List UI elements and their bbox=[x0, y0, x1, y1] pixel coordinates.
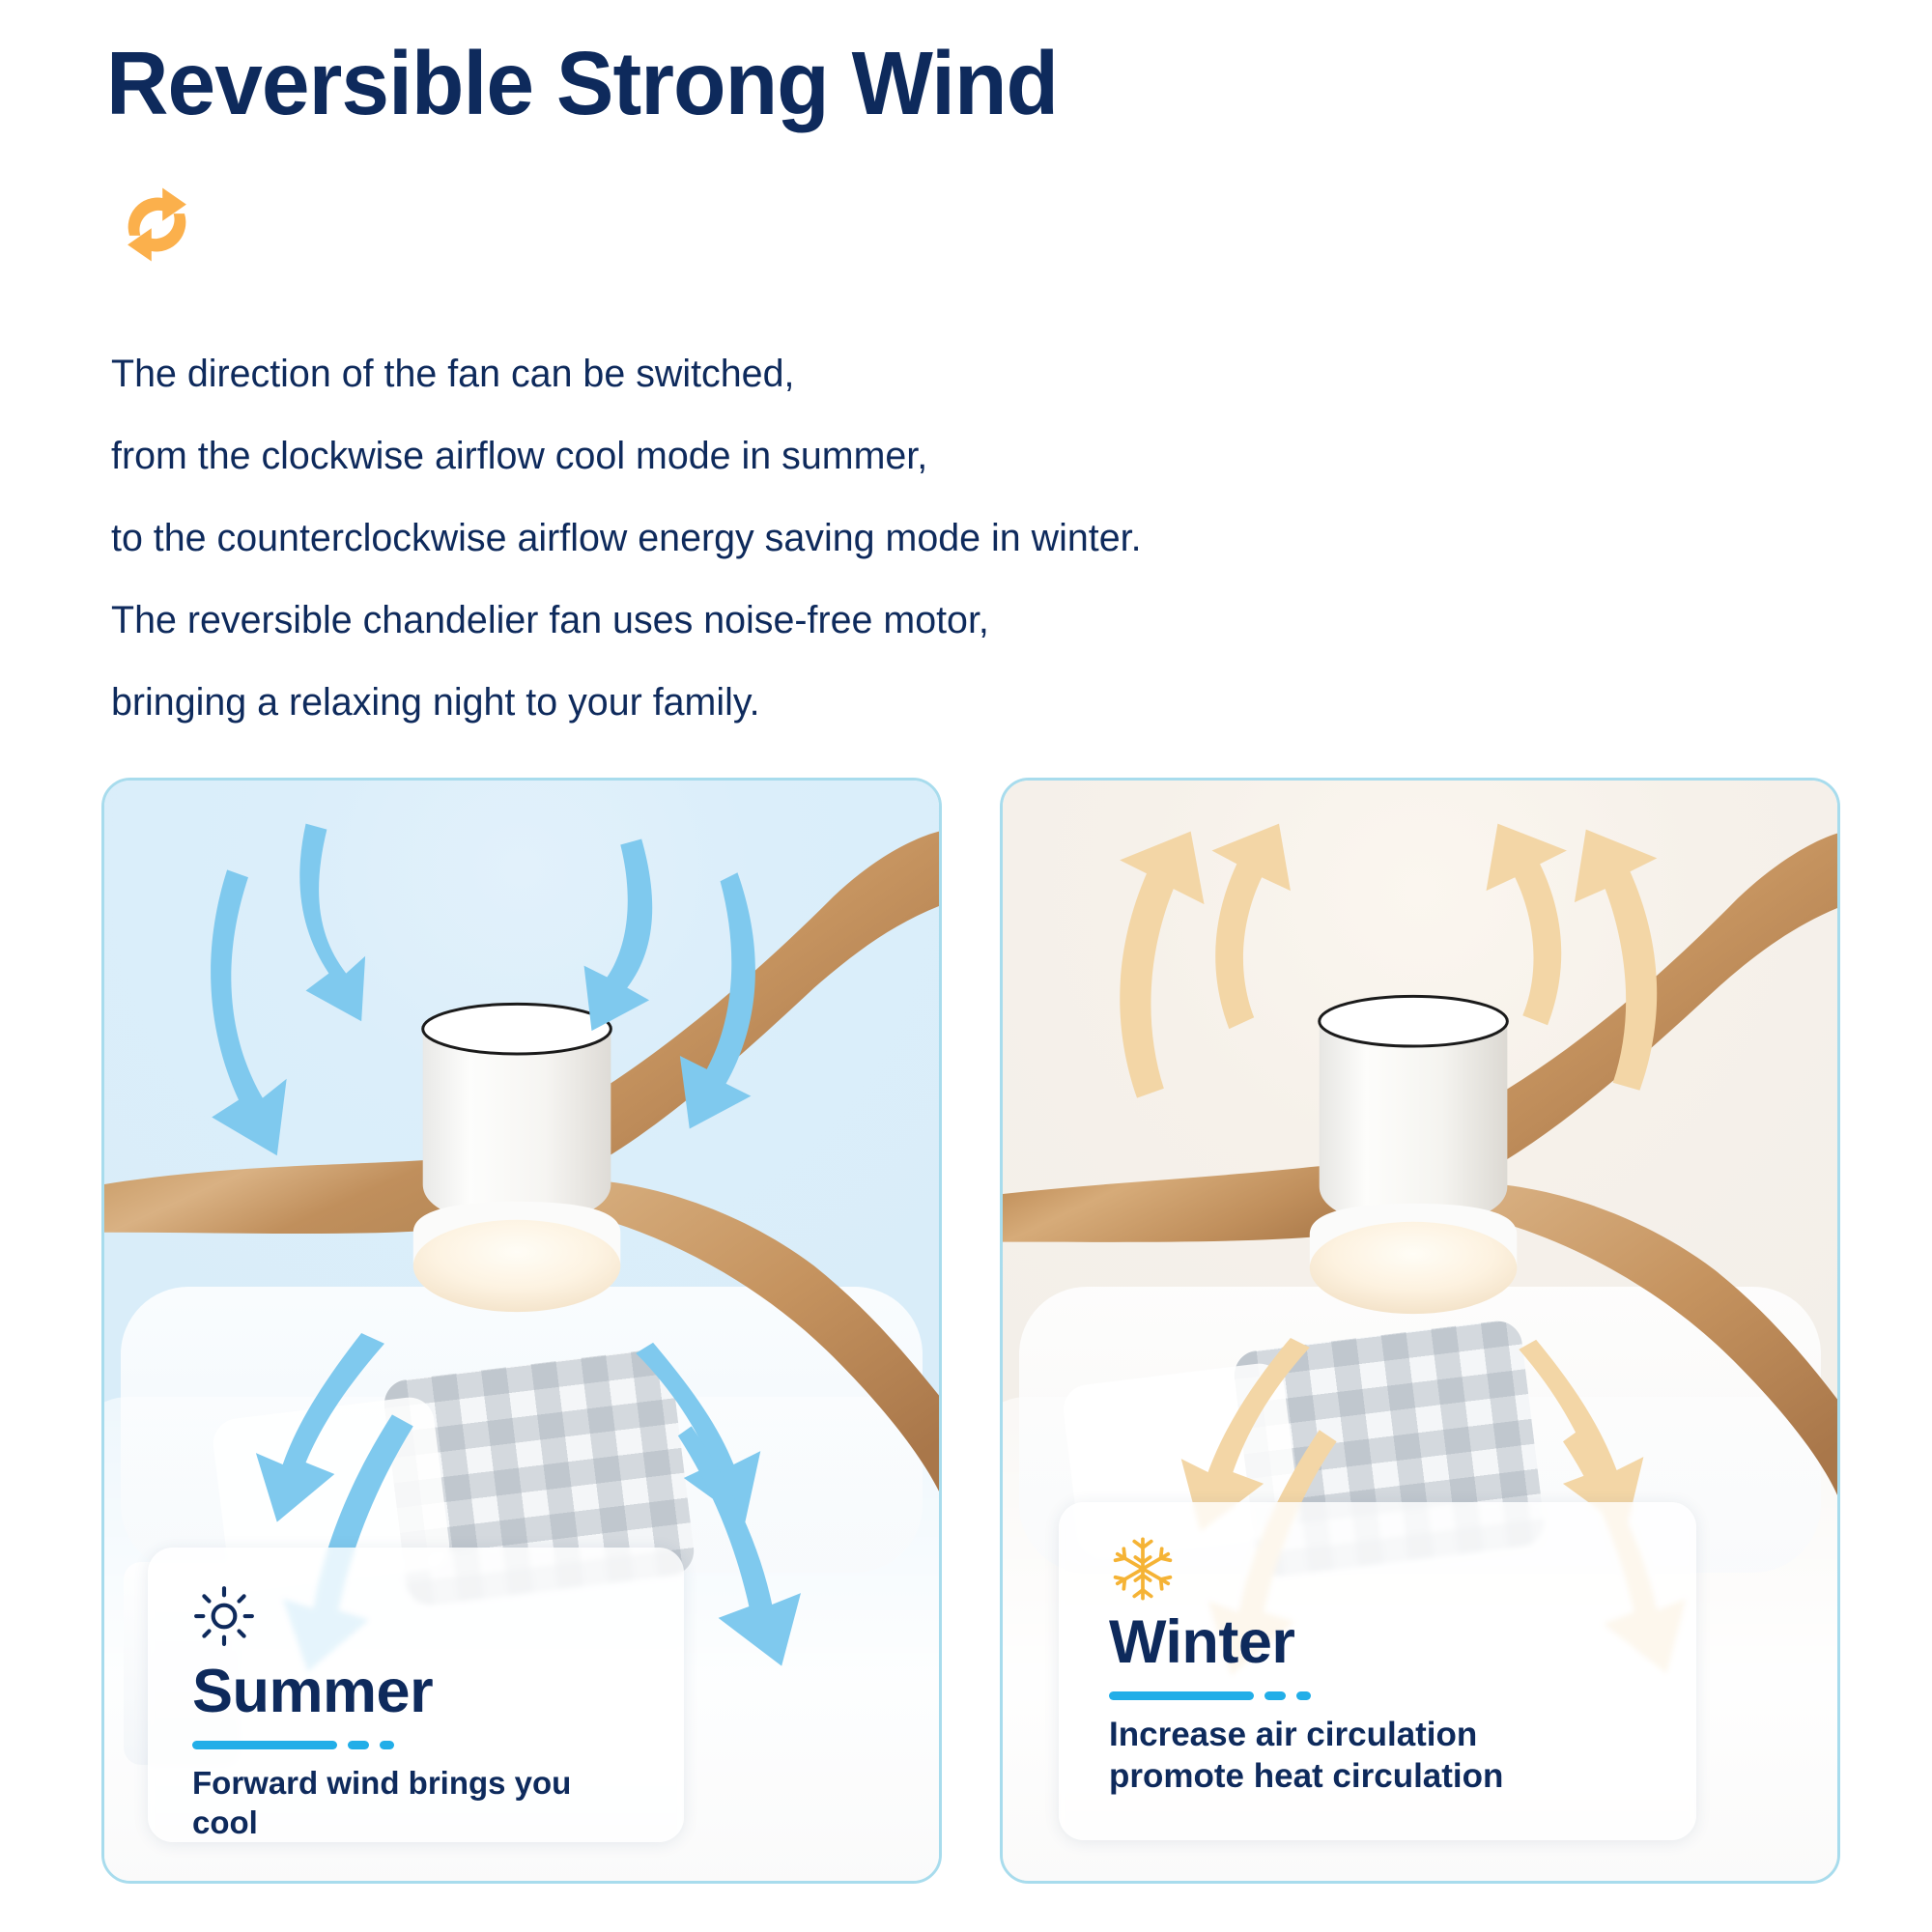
divider-dot bbox=[1296, 1691, 1311, 1700]
page-title: Reversible Strong Wind bbox=[106, 37, 1058, 131]
summer-label-card: Summer Forward wind brings you cool bbox=[148, 1548, 684, 1842]
divider bbox=[192, 1741, 639, 1749]
product-feature-page: Reversible Strong Wind The direction of … bbox=[0, 0, 1932, 1932]
season-title: Summer bbox=[192, 1658, 639, 1725]
fan-blade-lower-right bbox=[575, 1179, 939, 1492]
fan-motor-housing bbox=[423, 1029, 611, 1225]
motor-top bbox=[423, 1004, 611, 1054]
light-diffuser bbox=[1310, 1222, 1518, 1314]
season-description: Forward wind brings you cool bbox=[192, 1763, 639, 1842]
sun-icon bbox=[192, 1584, 639, 1654]
description-line: The reversible chandelier fan uses noise… bbox=[111, 580, 1539, 662]
motor-top bbox=[1320, 996, 1508, 1046]
description-line: bringing a relaxing night to your family… bbox=[111, 662, 1539, 744]
description-line: The direction of the fan can be switched… bbox=[111, 333, 1539, 415]
panel-winter: Winter Increase air circulation promote … bbox=[1000, 778, 1840, 1884]
divider-dot bbox=[1264, 1691, 1286, 1700]
fan-motor-housing bbox=[1320, 1021, 1508, 1227]
snowflake-icon bbox=[1109, 1535, 1646, 1605]
divider bbox=[1109, 1691, 1646, 1700]
season-title: Winter bbox=[1109, 1608, 1646, 1676]
description-line: to the counterclockwise airflow energy s… bbox=[111, 497, 1539, 580]
light-diffuser bbox=[413, 1220, 621, 1312]
season-description-line1: Increase air circulation bbox=[1109, 1714, 1646, 1755]
divider-dot bbox=[380, 1741, 394, 1749]
fan-blade-lower-right bbox=[1475, 1183, 1837, 1495]
refresh-cycle-icon bbox=[111, 179, 203, 270]
divider-dot bbox=[348, 1741, 369, 1749]
divider-bar bbox=[1109, 1691, 1254, 1700]
description-block: The direction of the fan can be switched… bbox=[111, 333, 1539, 744]
panel-summer: Summer Forward wind brings you cool bbox=[101, 778, 942, 1884]
winter-label-card: Winter Increase air circulation promote … bbox=[1059, 1502, 1696, 1840]
divider-bar bbox=[192, 1741, 337, 1749]
season-description-line2: promote heat circulation bbox=[1109, 1755, 1646, 1797]
description-line: from the clockwise airflow cool mode in … bbox=[111, 415, 1539, 497]
comparison-panels: Summer Forward wind brings you cool bbox=[101, 778, 1840, 1884]
